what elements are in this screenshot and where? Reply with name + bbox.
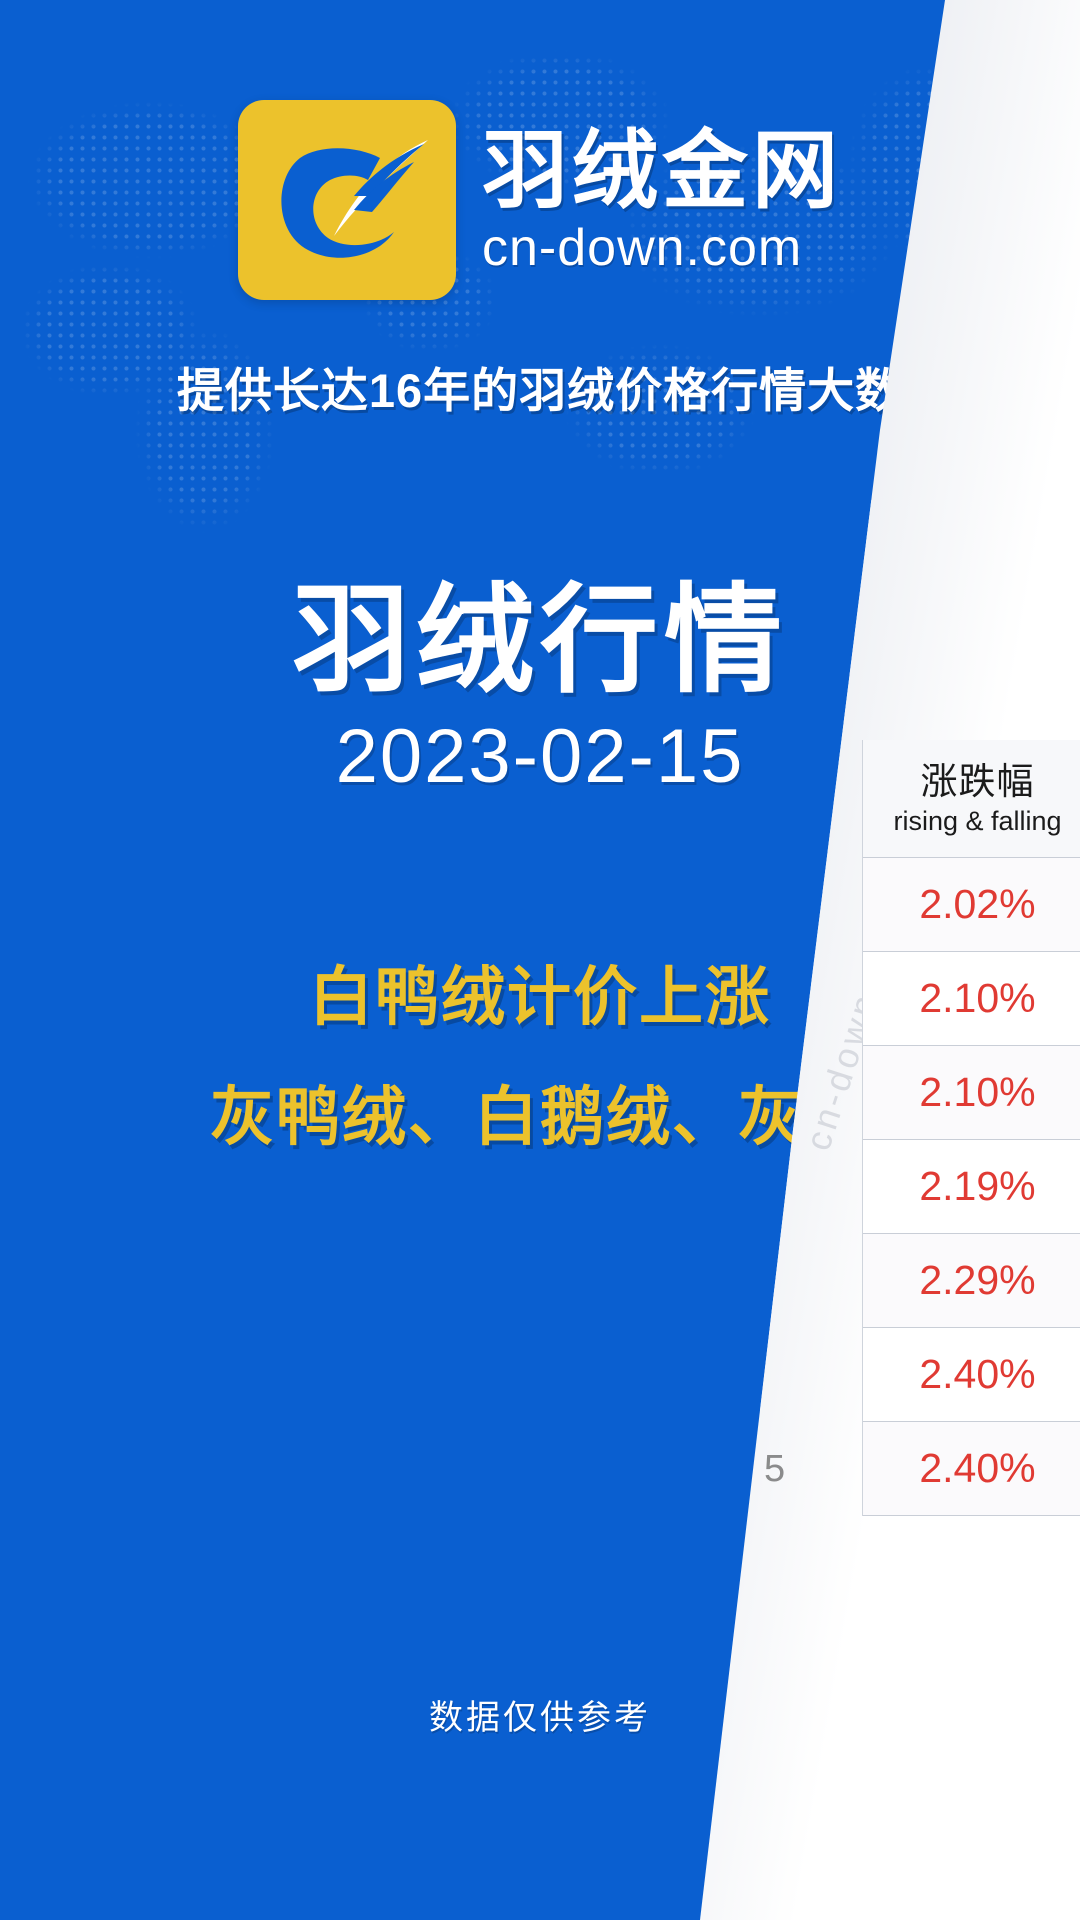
table-header-change: 涨跌幅 rising & falling: [863, 740, 1080, 858]
table-row[interactable]: 2.10%: [863, 952, 1080, 1046]
price-change-table[interactable]: 涨跌幅 rising & falling 2.02% 2.10% 2.10% 2…: [862, 740, 1080, 1516]
table-row[interactable]: 2.29%: [863, 1234, 1080, 1328]
table-header-cn: 涨跌幅: [921, 761, 1035, 802]
table-header-en: rising & falling: [893, 806, 1061, 836]
brand-url: cn-down.com: [482, 222, 802, 274]
table-row[interactable]: 2.19%: [863, 1140, 1080, 1234]
poster-root: 羽绒金网 cn-down.com 提供长达16年的羽绒价格行情大数 羽绒行情 2…: [0, 0, 1080, 1920]
table-row[interactable]: 2.40%: [863, 1422, 1080, 1516]
feather-logo-icon: [238, 100, 456, 300]
brand-name: 羽绒金网: [482, 126, 842, 216]
table-row[interactable]: 2.02%: [863, 858, 1080, 952]
table-row[interactable]: 2.10%: [863, 1046, 1080, 1140]
table-row[interactable]: 2.40%: [863, 1328, 1080, 1422]
